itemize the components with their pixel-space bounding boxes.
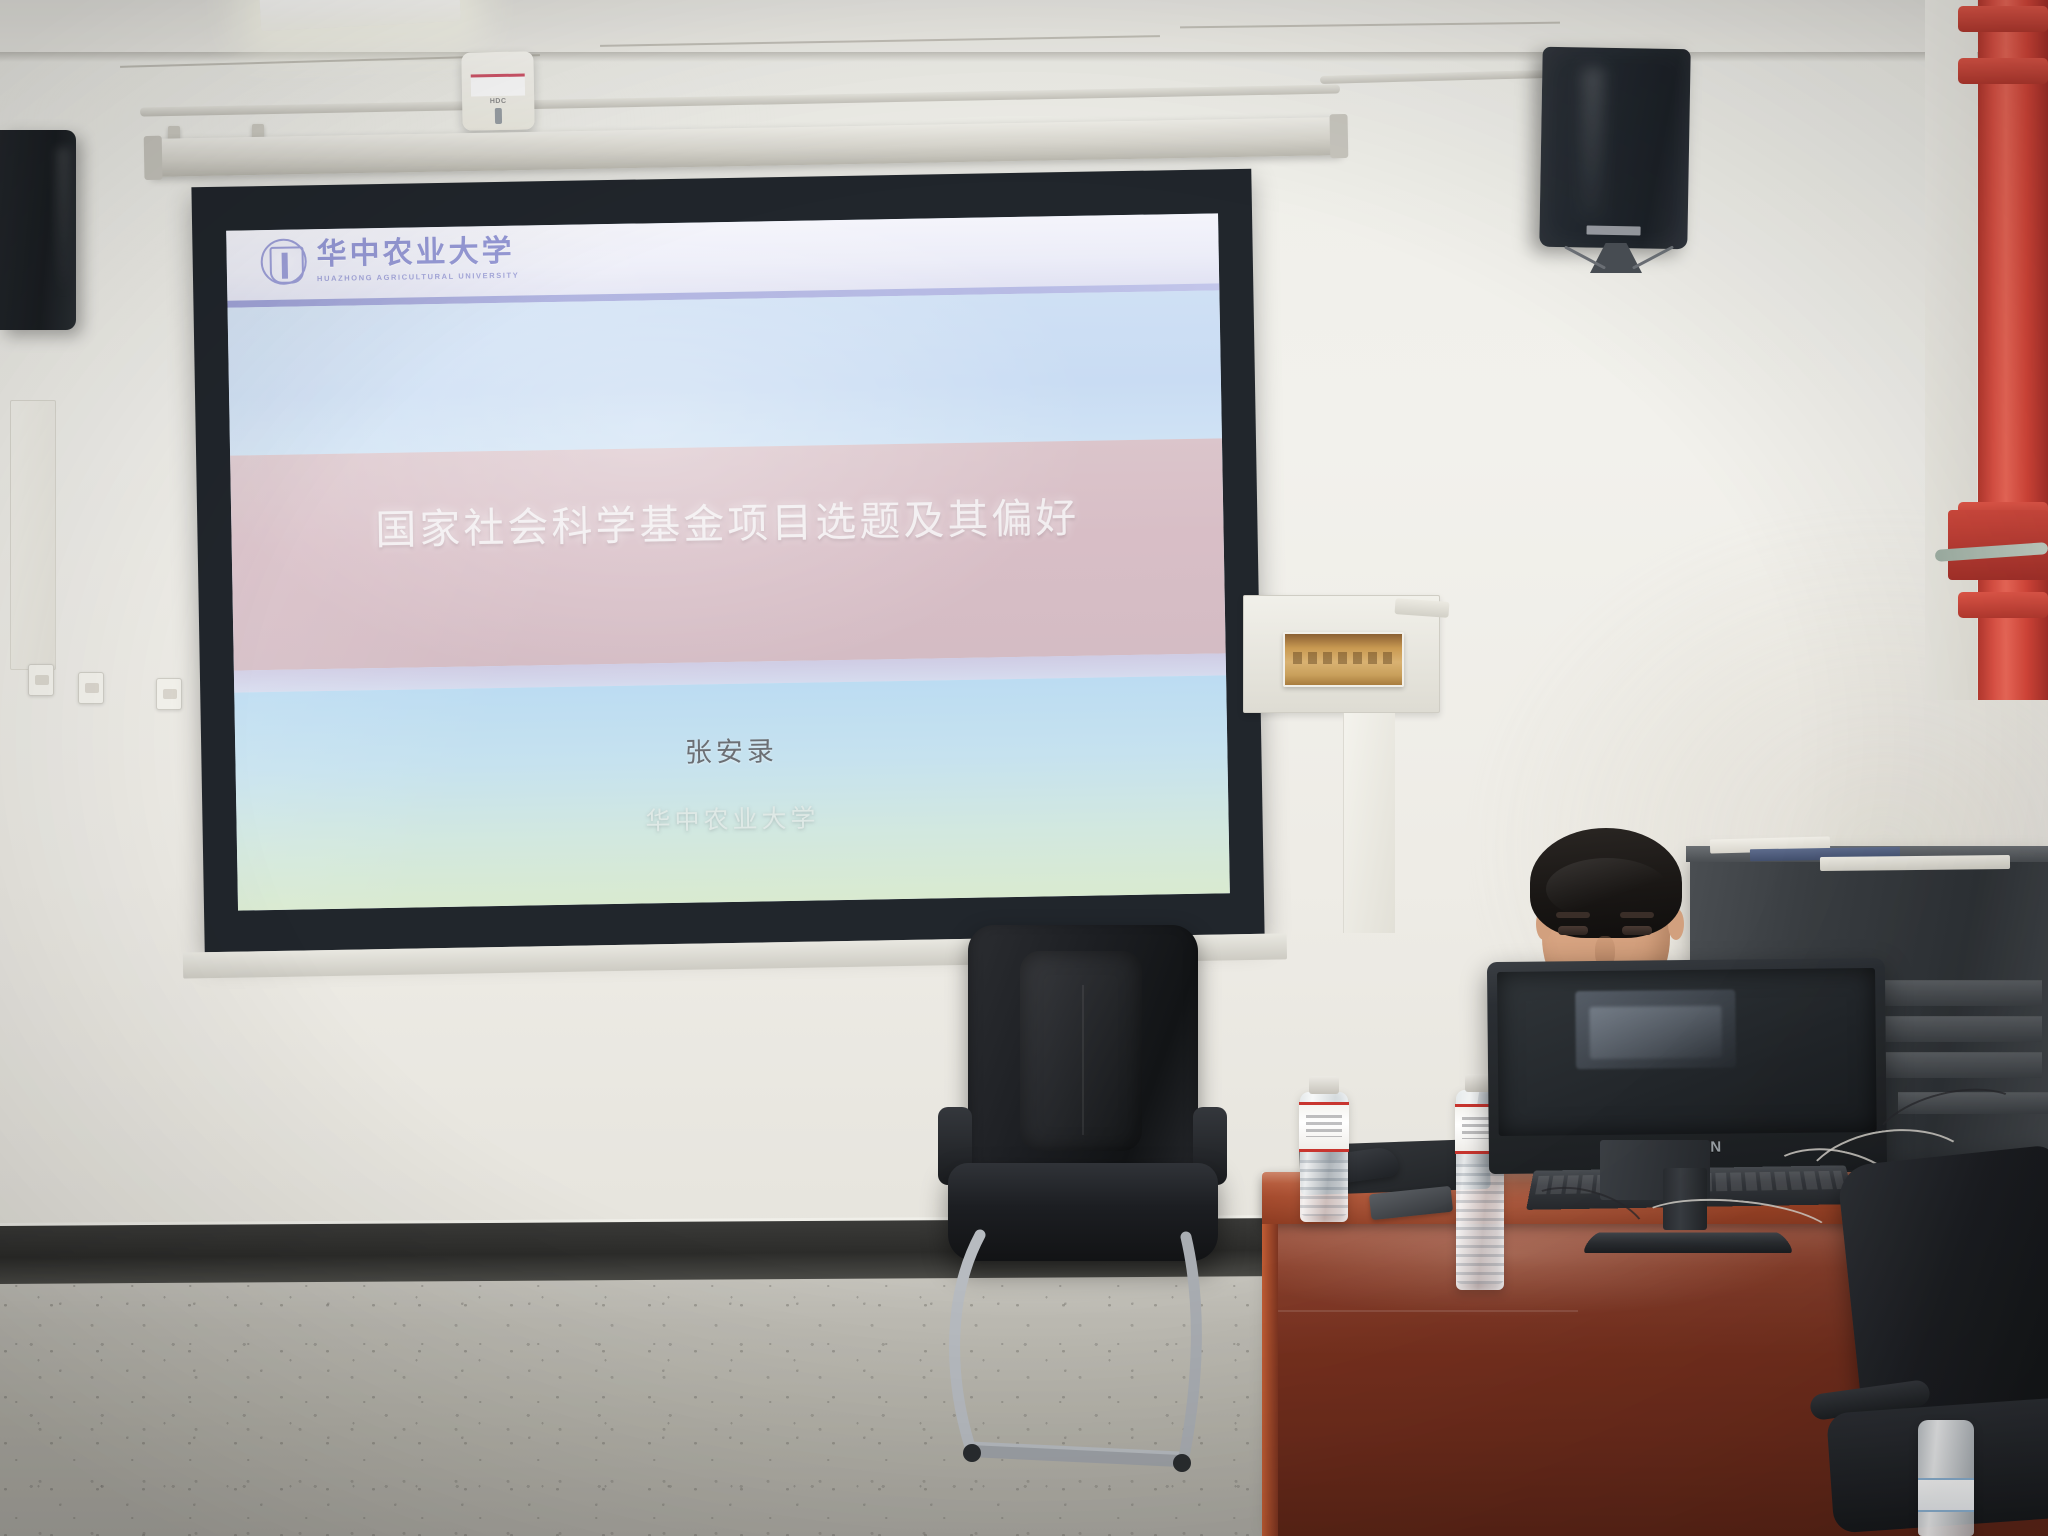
presentation-slide: 华中农业大学 HUAZHONG AGRICULTURAL UNIVERSITY … <box>226 213 1230 910</box>
chair-cantilever-frame <box>940 1225 1225 1485</box>
pipe-flange <box>1958 6 2048 32</box>
water-bottle[interactable] <box>1300 1092 1348 1222</box>
wall-speaker <box>1539 47 1690 250</box>
presenter-eye <box>1558 926 1588 935</box>
desk-left-edge <box>1262 1224 1278 1536</box>
power-outlet[interactable] <box>28 664 54 696</box>
projection-screen: 华中农业大学 HUAZHONG AGRICULTURAL UNIVERSITY … <box>191 169 1264 952</box>
office-chair[interactable] <box>940 925 1225 1485</box>
university-name-en: HUAZHONG AGRICULTURAL UNIVERSITY <box>317 270 519 283</box>
university-logo: 华中农业大学 HUAZHONG AGRICULTURAL UNIVERSITY <box>260 235 519 286</box>
device-led-icon <box>495 108 502 124</box>
wall-panel <box>10 400 56 670</box>
pipe-flange <box>1958 58 2048 84</box>
smoke-detector-icon: HDC <box>461 51 534 130</box>
presenter-eyebrow <box>1620 912 1654 918</box>
speaker-badge-icon <box>1586 226 1640 236</box>
wooden-wall-sign <box>1283 632 1404 687</box>
device-brand-text: HDC <box>462 97 534 105</box>
slide-blue-band <box>228 290 1222 455</box>
university-name-cn: 华中农业大学 <box>316 236 519 270</box>
paper-towel-dispenser <box>0 130 76 330</box>
bottle-ridges <box>1300 1160 1348 1216</box>
bottle-ridges <box>1456 1164 1504 1284</box>
lecture-room-photo: HDC 华中农业大学 HUAZHONG AGRICULTURAL UNIVERS… <box>0 0 2048 1536</box>
power-outlet[interactable] <box>78 672 104 704</box>
monitor-screen <box>1497 968 1877 1136</box>
desk-panel-seam <box>1278 1310 1578 1312</box>
housing-end-cap <box>1329 114 1348 158</box>
bottle-label <box>1299 1102 1349 1152</box>
presenter-eye <box>1622 926 1652 935</box>
bottle-cap-icon <box>1309 1076 1339 1094</box>
wall-post <box>1343 713 1395 933</box>
housing-end-cap <box>144 136 163 180</box>
bottle-label <box>1918 1478 1974 1512</box>
presenter-eyebrow <box>1556 912 1590 918</box>
university-seal-icon <box>260 238 307 285</box>
power-outlet[interactable] <box>156 678 182 710</box>
rack-document <box>1820 855 2010 871</box>
monitor-reflection <box>1589 1006 1722 1059</box>
chair-backrest <box>968 925 1198 1183</box>
pipe-flange <box>1958 592 2048 618</box>
wooden-sign-engraving <box>1293 652 1394 664</box>
device-label-strip <box>471 74 525 97</box>
water-bottle-foreground[interactable] <box>1918 1420 1974 1536</box>
chair-seam <box>1082 985 1084 1135</box>
presenter-hair <box>1530 828 1682 938</box>
